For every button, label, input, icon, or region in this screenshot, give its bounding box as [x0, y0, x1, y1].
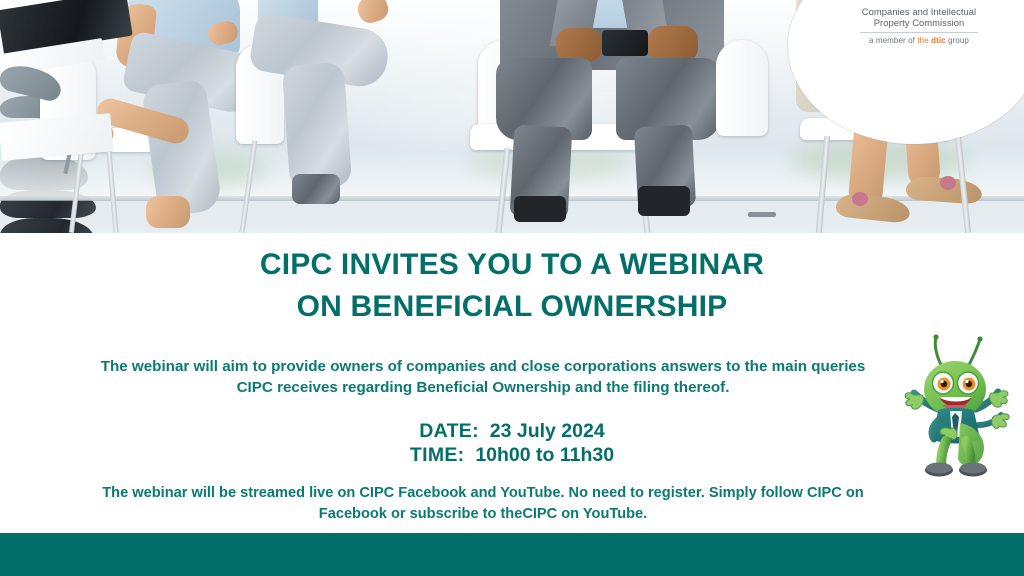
logo-name-line1: Companies and Intellectual: [806, 6, 1024, 17]
footer-bar: [0, 533, 1024, 576]
person3-sock-right: [638, 186, 690, 216]
intro-line1: The webinar will aim to provide owners o…: [72, 356, 894, 377]
streaming-info-paragraph: The webinar will be streamed live on CIP…: [60, 483, 906, 524]
briefcase-clasp: [748, 212, 776, 217]
logo-content: Companies and Intellectual Property Comm…: [806, 0, 1024, 66]
poster-body: CIPC INVITES YOU TO A WEBINAR ON BENEFIC…: [0, 233, 1024, 533]
dtic-the: the: [917, 36, 931, 45]
person3-mobile-phone: [602, 30, 648, 56]
page-title-line2: ON BENEFICIAL OWNERSHIP: [0, 290, 1024, 324]
logo-name-line2: Property Commission: [806, 17, 1024, 28]
outro-line2: Facebook or subscribe to theCIPC on YouT…: [60, 504, 906, 525]
event-time-value: 10h00 to 11h30: [475, 444, 614, 466]
logo-divider: [860, 32, 978, 33]
chair-back-4: [716, 40, 768, 136]
person3-hand-left: [556, 28, 602, 62]
event-date-label: DATE:: [419, 420, 479, 442]
outro-line1: The webinar will be streamed live on CIP…: [60, 483, 906, 504]
event-date-row: DATE: 23 July 2024: [0, 420, 1024, 444]
event-time-label: TIME:: [410, 444, 465, 466]
person2-sock: [292, 174, 340, 204]
person2-shin: [282, 62, 352, 190]
event-time-row: TIME: 10h00 to 11h30: [0, 444, 1024, 468]
event-details: DATE: 23 July 2024 TIME: 10h00 to 11h30: [0, 420, 1024, 467]
dtic-word: dtic: [931, 36, 946, 45]
event-date-value: 23 July 2024: [490, 420, 605, 442]
intro-line2: CIPC receives regarding Beneficial Owner…: [72, 377, 894, 398]
person1-foot-lower: [146, 196, 190, 228]
cipc-swirl-logo-icon: [882, 0, 956, 2]
person3-sock-left: [514, 196, 566, 222]
intro-paragraph: The webinar will aim to provide owners o…: [72, 356, 894, 398]
person3-hand-right: [648, 26, 698, 62]
logo-dtic-line: a member of the dtic group: [806, 36, 1024, 45]
person4-shoe-detail-back: [940, 176, 956, 190]
webinar-poster: Companies and Intellectual Property Comm…: [0, 0, 1024, 576]
person3-shoe-right: [0, 218, 94, 233]
dtic-suffix: group: [946, 36, 969, 45]
dtic-prefix: a member of: [869, 36, 917, 45]
page-title-line1: CIPC INVITES YOU TO A WEBINAR: [0, 248, 1024, 282]
person4-shoe-detail-front: [852, 192, 868, 206]
header-photo-banner: Companies and Intellectual Property Comm…: [0, 0, 1024, 233]
grasshopper-mascot-icon: [898, 333, 1016, 477]
